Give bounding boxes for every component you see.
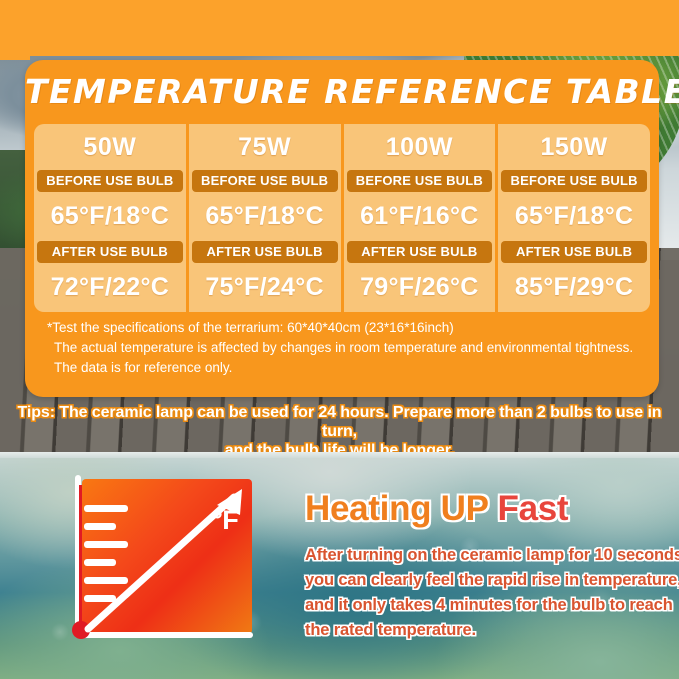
after-use-band: AFTER USE BULB <box>192 241 338 263</box>
footnote-line-3: The data is for reference only. <box>47 358 647 378</box>
orange-overlay-top <box>0 0 679 56</box>
after-use-value: 75°F/24°C <box>189 263 341 312</box>
table-column-150w: 150W BEFORE USE BULB 65°F/18°C AFTER USE… <box>495 124 650 312</box>
footnote-line-2: The actual temperature is affected by ch… <box>47 338 647 358</box>
heading-part-heating-up: Heating UP <box>305 489 497 528</box>
before-use-band: BEFORE USE BULB <box>192 170 338 192</box>
after-use-value: 79°F/26°C <box>344 263 496 312</box>
page-title: TEMPERATURE REFERENCE TABLE <box>25 72 659 111</box>
section-divider <box>0 452 679 458</box>
heating-description: After turning on the ceramic lamp for 10… <box>305 543 677 643</box>
description-line-1: After turning on the ceramic lamp for 10… <box>305 543 677 568</box>
before-use-band: BEFORE USE BULB <box>37 170 183 192</box>
temperature-table: 50W BEFORE USE BULB 65°F/18°C AFTER USE … <box>34 124 650 312</box>
wattage-label: 100W <box>344 124 496 170</box>
wattage-label: 50W <box>34 124 186 170</box>
orange-overlay-left <box>0 0 30 60</box>
footnote-line-1: *Test the specifications of the terrariu… <box>47 318 647 338</box>
wattage-label: 75W <box>189 124 341 170</box>
temperature-card: TEMPERATURE REFERENCE TABLE 50W BEFORE U… <box>25 60 659 397</box>
fahrenheit-unit-label: °F <box>212 505 238 536</box>
after-use-value: 85°F/29°C <box>498 263 650 312</box>
tips-line-1: Tips: The ceramic lamp can be used for 2… <box>18 404 662 440</box>
temperature-table-section: TEMPERATURE REFERENCE TABLE 50W BEFORE U… <box>0 0 679 452</box>
heating-heading: Heating UP Fast <box>305 489 568 529</box>
footnote-block: *Test the specifications of the terrariu… <box>47 318 647 378</box>
description-line-2: you can clearly feel the rapid rise in t… <box>305 568 677 593</box>
infographic-page: TEMPERATURE REFERENCE TABLE 50W BEFORE U… <box>0 0 679 679</box>
before-use-value: 65°F/18°C <box>189 192 341 241</box>
after-use-band: AFTER USE BULB <box>37 241 183 263</box>
description-line-4: the rated temperature. <box>305 618 677 643</box>
after-use-band: AFTER USE BULB <box>501 241 647 263</box>
before-use-band: BEFORE USE BULB <box>501 170 647 192</box>
before-use-band: BEFORE USE BULB <box>347 170 493 192</box>
table-column-75w: 75W BEFORE USE BULB 65°F/18°C AFTER USE … <box>186 124 341 312</box>
after-use-value: 72°F/22°C <box>34 263 186 312</box>
wattage-label: 150W <box>498 124 650 170</box>
thermometer-rising-graph-icon: °F <box>72 479 260 651</box>
tips-banner: Tips: The ceramic lamp can be used for 2… <box>0 403 679 452</box>
table-column-50w: 50W BEFORE USE BULB 65°F/18°C AFTER USE … <box>34 124 186 312</box>
table-column-100w: 100W BEFORE USE BULB 61°F/16°C AFTER USE… <box>341 124 496 312</box>
after-use-band: AFTER USE BULB <box>347 241 493 263</box>
before-use-value: 61°F/16°C <box>344 192 496 241</box>
heading-part-fast: Fast <box>497 489 568 528</box>
before-use-value: 65°F/18°C <box>498 192 650 241</box>
before-use-value: 65°F/18°C <box>34 192 186 241</box>
tips-line-2: and the bulb life will be longer. <box>0 441 679 452</box>
description-line-3: and it only takes 4 minutes for the bulb… <box>305 593 677 618</box>
